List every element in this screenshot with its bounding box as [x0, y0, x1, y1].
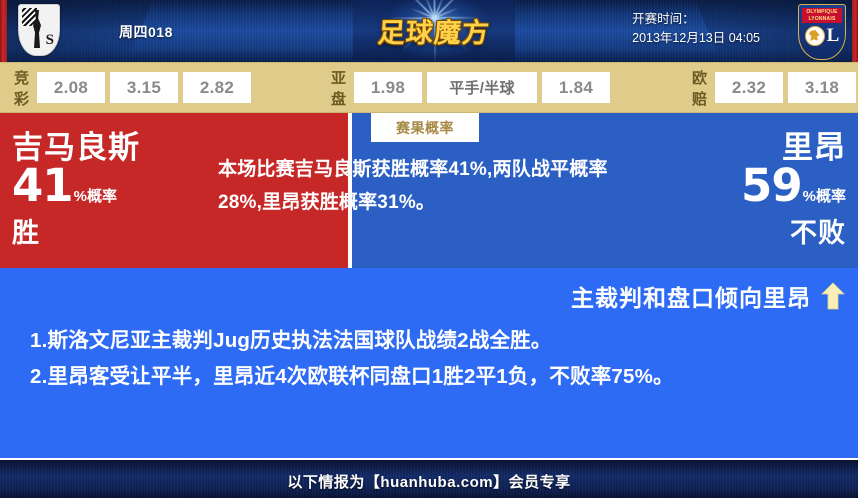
odds-group-2: 亚盘1.98平手/半球1.84 [331, 67, 610, 109]
odds-cell[interactable]: 2.82 [183, 72, 251, 103]
odds-cell[interactable]: 1.98 [354, 72, 422, 103]
odds-cell[interactable]: 2.32 [715, 72, 783, 103]
kickoff-label: 开赛时间： [632, 10, 760, 29]
intel-headline: 主裁判和盘口倾向里昂 [571, 279, 811, 313]
odds-group-label: 竞彩 [14, 67, 29, 109]
header-left-red-edge [0, 0, 7, 62]
match-number-label: 周四018 [119, 22, 173, 42]
intel-section: 主裁判和盘口倾向里昂 1.斯洛文尼亚主裁判Jug历史执法法国球队战绩2战全胜。2… [0, 268, 858, 458]
home-probability-block: 吉马良斯 41%概率 胜 [12, 131, 140, 248]
odds-cell[interactable]: 1.84 [542, 72, 610, 103]
odds-group-3: 欧赔2.323.182.95 [692, 67, 858, 109]
away-crest-band: OLYMPIQUE LYONNAIS [802, 8, 842, 23]
odds-group-1: 竞彩2.083.152.82 [14, 67, 251, 109]
tab-result-probability-label: 赛果概率 [396, 118, 454, 138]
odds-bar: 竞彩2.083.152.82亚盘1.98平手/半球1.84欧赔2.323.182… [0, 62, 858, 113]
match-preview-card: S 周四018 足球魔方 开赛时间： 2013年12月13日 04:05 OLY… [0, 0, 858, 498]
footer-notice: 以下情报为【huanhuba.com】会员专享 [287, 471, 570, 492]
home-team-crest-icon: S [18, 4, 58, 58]
home-percent-row: 41%概率 [12, 165, 140, 218]
odds-cell[interactable]: 2.08 [37, 72, 105, 103]
away-percent-unit: %概率 [803, 188, 846, 205]
away-crest-sub: LYONNAIS [802, 16, 842, 23]
footer-bar: 以下情报为【huanhuba.com】会员专享 [0, 458, 858, 498]
away-percent-row: 59%概率 [741, 165, 846, 218]
brand-name: 足球魔方 [377, 11, 492, 50]
intel-item: 2.里昂客受让平半，里昂近4次欧联杯同盘口1胜2平1负，不败率75%。 [30, 359, 836, 395]
home-percent-unit: %概率 [74, 188, 117, 205]
away-crest-letter: L [827, 26, 840, 45]
arrow-up-icon [821, 282, 845, 310]
probability-section: 赛果概率 吉马良斯 41%概率 胜 里昂 59%概率 不败 本场比赛吉马良斯获胜… [0, 113, 858, 268]
home-percent-value: 41 [12, 159, 73, 212]
tab-result-probability[interactable]: 赛果概率 [371, 113, 479, 142]
intel-headline-row: 主裁判和盘口倾向里昂 [571, 279, 845, 313]
away-outcome-label: 不败 [741, 218, 846, 248]
away-team-crest-icon: OLYMPIQUE LYONNAIS L [798, 4, 844, 60]
odds-cell[interactable]: 3.18 [788, 72, 856, 103]
intel-item: 1.斯洛文尼亚主裁判Jug历史执法法国球队战绩2战全胜。 [30, 323, 836, 359]
kickoff-value: 2013年12月13日 04:05 [632, 29, 760, 48]
home-outcome-label: 胜 [12, 218, 140, 248]
odds-group-label: 亚盘 [331, 67, 346, 109]
kickoff-time-block: 开赛时间： 2013年12月13日 04:05 [632, 10, 760, 48]
brand-logo: 足球魔方 [353, 0, 515, 60]
probability-summary-text: 本场比赛吉马良斯获胜概率41%,两队战平概率28%,里昂获胜概率31%。 [218, 153, 638, 219]
away-probability-block: 里昂 59%概率 不败 [741, 131, 846, 248]
match-header: S 周四018 足球魔方 开赛时间： 2013年12月13日 04:05 OLY… [0, 0, 858, 62]
home-crest-letter: S [46, 33, 54, 48]
odds-group-label: 欧赔 [692, 67, 707, 109]
lion-emblem-icon [805, 26, 825, 46]
header-right-red-edge [852, 0, 858, 62]
intel-list: 1.斯洛文尼亚主裁判Jug历史执法法国球队战绩2战全胜。2.里昂客受让平半，里昂… [30, 323, 836, 395]
away-percent-value: 59 [741, 159, 802, 212]
odds-cell[interactable]: 3.15 [110, 72, 178, 103]
odds-cell[interactable]: 平手/半球 [427, 72, 537, 103]
away-crest-top: OLYMPIQUE [802, 9, 842, 16]
